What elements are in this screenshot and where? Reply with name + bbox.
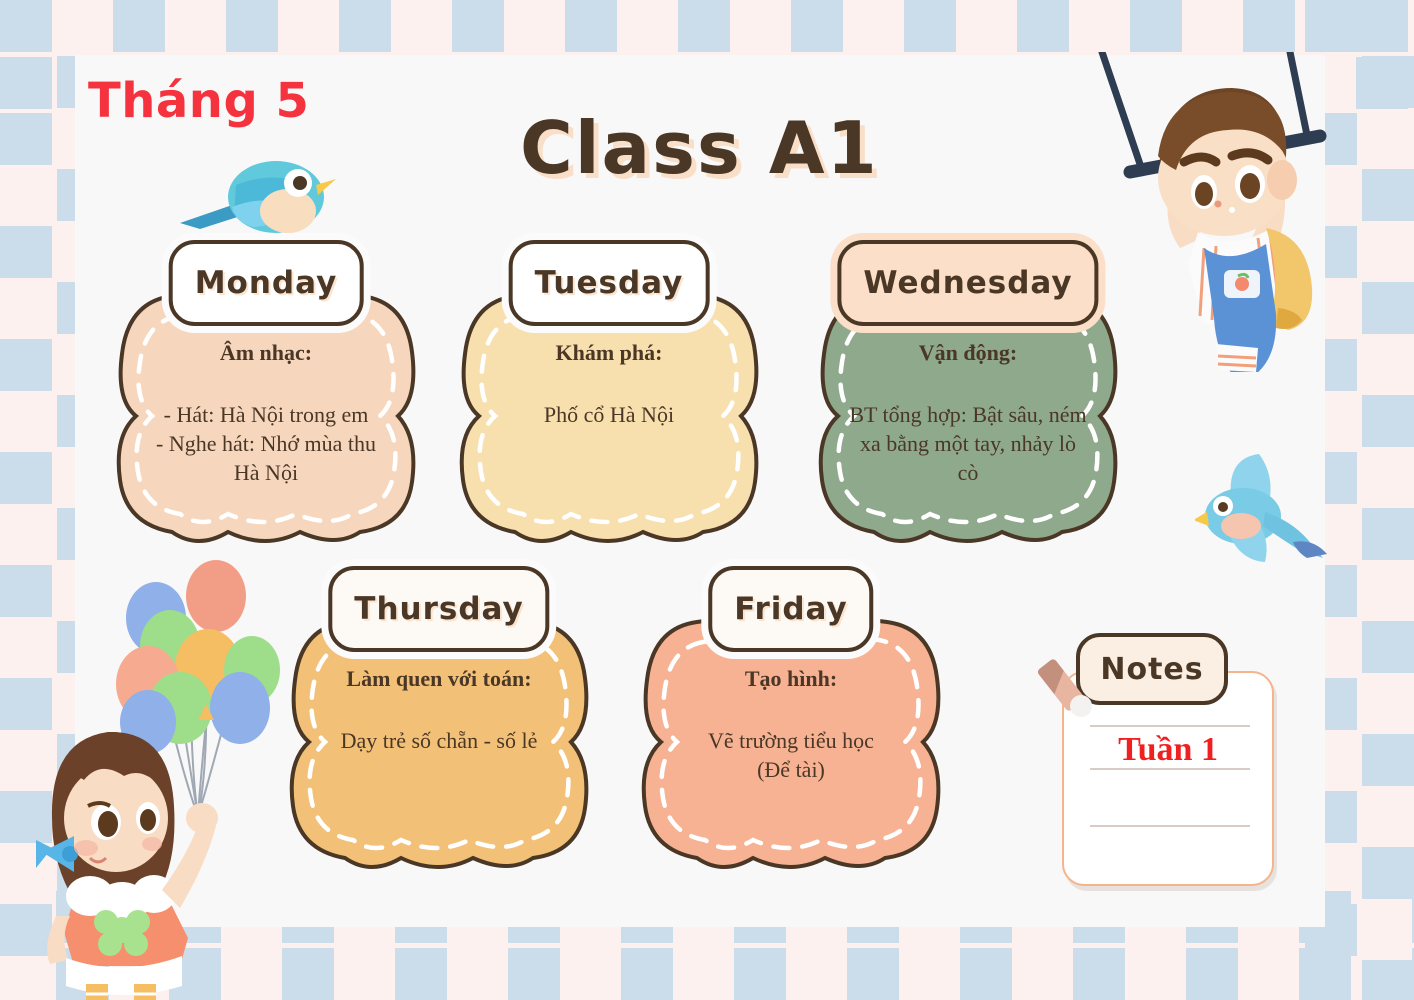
- day-card-monday[interactable]: Monday Âm nhạc: - Hát: Hà Nội trong em -…: [110, 240, 422, 550]
- border-square: [1362, 395, 1414, 447]
- border-square: [339, 0, 391, 52]
- border-square: [960, 948, 1012, 1000]
- detail-monday: - Hát: Hà Nội trong em - Nghe hát: Nhớ m…: [135, 400, 397, 487]
- border-square: [904, 0, 956, 52]
- border-square: [0, 226, 52, 278]
- day-card-tuesday[interactable]: Tuesday Khám phá: Phố cổ Hà Nội: [453, 240, 765, 550]
- border-square: [0, 57, 52, 109]
- day-tag-friday[interactable]: Friday: [708, 566, 873, 652]
- detail-line: Vẽ trường tiểu học: [660, 726, 922, 755]
- border-square: [621, 948, 673, 1000]
- border-square: [1362, 621, 1414, 673]
- border-square: [0, 904, 52, 956]
- subject-friday: Tạo hình:: [660, 666, 922, 692]
- detail-line: - Hát: Hà Nội trong em: [135, 400, 397, 429]
- day-content-monday: Âm nhạc: - Hát: Hà Nội trong em - Nghe h…: [135, 340, 397, 487]
- day-content-friday: Tạo hình: Vẽ trường tiểu học (Để tài): [660, 666, 922, 784]
- border-square: [226, 0, 278, 52]
- day-name-wednesday: Wednesday: [863, 265, 1072, 301]
- day-content-wednesday: Vận động: BT tổng hợp: Bật sâu, ném xa b…: [837, 340, 1099, 487]
- day-tag-wednesday[interactable]: Wednesday: [837, 240, 1098, 326]
- week-number: Tuần 1: [1064, 731, 1272, 769]
- detail-wednesday: BT tổng hợp: Bật sâu, ném xa bằng một ta…: [837, 400, 1099, 487]
- note-rule-line: [1090, 725, 1250, 727]
- notes-card[interactable]: Tuần 1 Notes: [1040, 633, 1290, 888]
- detail-thursday: Dạy trẻ số chẵn - số lẻ: [308, 726, 570, 755]
- notes-label: Notes: [1100, 652, 1203, 687]
- detail-line: - Nghe hát: Nhớ mùa thu: [135, 429, 397, 458]
- day-card-friday[interactable]: Friday Tạo hình: Vẽ trường tiểu học (Để …: [635, 566, 947, 876]
- border-square: [1362, 169, 1414, 221]
- border-square: [678, 0, 730, 52]
- border-square: [1243, 0, 1295, 52]
- border-square: [0, 452, 52, 504]
- subject-monday: Âm nhạc:: [135, 340, 397, 366]
- subject-tuesday: Khám phá:: [478, 340, 740, 366]
- border-square: [1305, 0, 1357, 52]
- border-square: [1362, 960, 1414, 1000]
- page-title: Class A1: [520, 106, 879, 190]
- border-square: [734, 948, 786, 1000]
- day-tag-tuesday[interactable]: Tuesday: [509, 240, 710, 326]
- border-square: [0, 0, 52, 52]
- border-square: [0, 791, 52, 843]
- border-square: [1186, 948, 1238, 1000]
- detail-line: Dạy trẻ số chẵn - số lẻ: [308, 726, 570, 755]
- detail-line: BT tổng hợp: Bật sâu, ném: [837, 400, 1099, 429]
- poster-canvas: Tháng 5 Class A1: [0, 0, 1414, 1000]
- border-square: [0, 565, 52, 617]
- day-name-tuesday: Tuesday: [535, 265, 684, 301]
- border-square: [282, 948, 334, 1000]
- day-card-wednesday[interactable]: Wednesday Vận động: BT tổng hợp: Bật sâu…: [812, 240, 1124, 550]
- border-square: [1362, 508, 1414, 560]
- day-name-friday: Friday: [734, 591, 847, 627]
- note-rule-line: [1090, 825, 1250, 827]
- day-tag-monday[interactable]: Monday: [169, 240, 364, 326]
- detail-line: xa bằng một tay, nhảy lò: [837, 429, 1099, 458]
- day-content-thursday: Làm quen với toán: Dạy trẻ số chẵn - số …: [308, 666, 570, 755]
- border-square: [0, 113, 52, 165]
- detail-line: (Để tài): [660, 755, 922, 784]
- border-square: [1362, 282, 1414, 334]
- border-square: [1362, 847, 1414, 899]
- detail-friday: Vẽ trường tiểu học (Để tài): [660, 726, 922, 784]
- border-square: [1073, 948, 1125, 1000]
- border-square: [452, 0, 504, 52]
- day-tag-thursday[interactable]: Thursday: [328, 566, 549, 652]
- day-name-monday: Monday: [195, 265, 338, 301]
- day-name-thursday: Thursday: [354, 591, 523, 627]
- border-square: [1130, 0, 1182, 52]
- subject-thursday: Làm quen với toán:: [308, 666, 570, 692]
- border-square: [169, 948, 221, 1000]
- detail-line: Hà Nội: [135, 458, 397, 487]
- month-label: Tháng 5: [88, 73, 309, 129]
- border-square: [1362, 56, 1414, 108]
- day-card-thursday[interactable]: Thursday Làm quen với toán: Dạy trẻ số c…: [283, 566, 595, 876]
- border-square: [0, 678, 52, 730]
- border-square: [0, 339, 52, 391]
- tape-dot-icon: [1070, 695, 1092, 717]
- border-square: [508, 948, 560, 1000]
- detail-line: Phố cổ Hà Nội: [478, 400, 740, 429]
- detail-line: cò: [837, 458, 1099, 487]
- detail-tuesday: Phố cổ Hà Nội: [478, 400, 740, 429]
- subject-wednesday: Vận động:: [837, 340, 1099, 366]
- border-square: [113, 0, 165, 52]
- border-square: [1362, 734, 1414, 786]
- border-square: [791, 0, 843, 52]
- border-square: [1017, 0, 1069, 52]
- border-square: [57, 960, 109, 1000]
- border-square: [565, 0, 617, 52]
- notes-tag[interactable]: Notes: [1076, 633, 1228, 705]
- day-content-tuesday: Khám phá: Phố cổ Hà Nội: [478, 340, 740, 429]
- border-square: [395, 948, 447, 1000]
- border-square: [1356, 0, 1408, 52]
- border-square: [847, 948, 899, 1000]
